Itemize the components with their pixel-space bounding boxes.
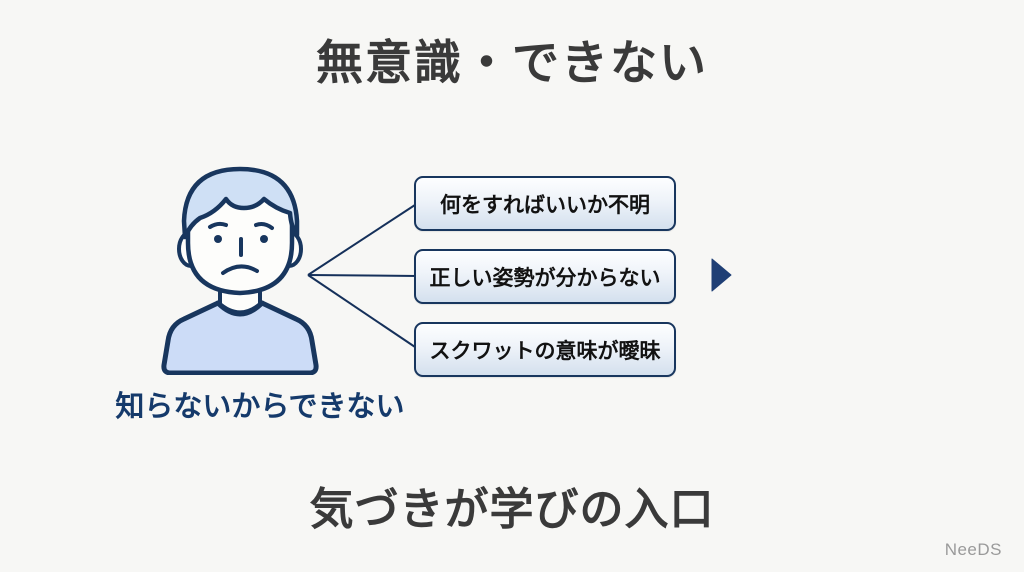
watermark-logo: NeeDS [945,540,1002,560]
problem-box-label: スクワットの意味が曖昧 [430,335,661,365]
play-triangle-right-icon[interactable] [710,258,732,292]
slide-canvas: 無意識・できない 知らない [0,0,1024,572]
page-title: 無意識・できない [0,36,1024,90]
problem-box[interactable]: 何をすればいいか不明 [414,176,676,231]
problem-box-label: 正しい姿勢が分からない [430,262,661,292]
problem-box[interactable]: 正しい姿勢が分からない [414,249,676,304]
problem-box[interactable]: スクワットの意味が曖昧 [414,322,676,377]
person-caption: 知らないからできない [60,383,460,425]
worried-person-icon [160,163,340,375]
bottom-message: 気づきが学びの入口 [0,473,1024,537]
problem-box-label: 何をすればいいか不明 [440,189,650,219]
